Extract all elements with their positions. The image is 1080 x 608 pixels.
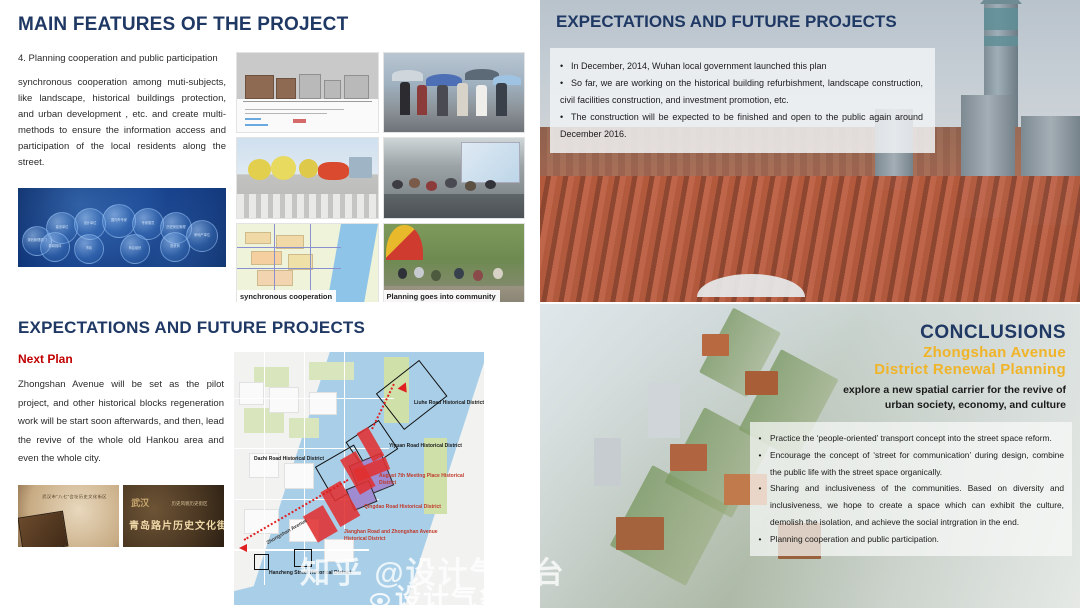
map-label-hanzheng: Hanzheng Street Historical District xyxy=(269,570,351,576)
slide-conclusions: CONCLUSIONS Zhongshan Avenue District Re… xyxy=(540,304,1080,608)
slide1-body: 4. Planning cooperation and public parti… xyxy=(18,52,525,302)
slide3-body: Next Plan Zhongshan Avenue will be set a… xyxy=(18,352,527,605)
bullet-item: •The construction will be expected to be… xyxy=(560,109,923,143)
page-title: CONCLUSIONS xyxy=(843,322,1066,344)
bullet-item: •Sharing and inclusiveness of the commun… xyxy=(756,480,1064,530)
qingdao-road-poster: 武汉 历史风貌历史街区 青岛路片历史文化街区 xyxy=(123,485,224,547)
historical-districts-map: Zhongshan Avenue Liuhe Road Historical D… xyxy=(234,352,484,605)
slide-expectations-top: EXPECTATIONS AND FUTURE PROJECTS •In Dec… xyxy=(540,0,1080,302)
district-outline-small xyxy=(254,554,269,569)
community-event-photo: Planning goes into community xyxy=(383,223,526,302)
conclusions-subtitle-line1: Zhongshan Avenue xyxy=(843,344,1066,361)
next-plan-heading: Next Plan xyxy=(18,352,224,366)
feature-heading: 4. Planning cooperation and public parti… xyxy=(18,52,226,66)
map-label-dazhi: Dazhi Road Historical District xyxy=(254,456,324,462)
next-plan-thumbnails: 武汉市“八七”会址历史文化街区 武汉 历史风貌历史街区 青岛路片历史文化街区 xyxy=(18,485,224,547)
expectations-bullet-panel: •In December, 2014, Wuhan local governme… xyxy=(550,48,935,153)
feature-photo-gallery: synchronous cooperation Planning goes in… xyxy=(236,52,525,302)
presentation-collage: MAIN FEATURES OF THE PROJECT 4. Planning… xyxy=(0,0,1080,608)
street-rendering xyxy=(236,137,379,218)
bullet-item: •In December, 2014, Wuhan local governme… xyxy=(560,58,923,75)
poster-caption: 武汉市“八七”会址历史文化街区 xyxy=(42,494,107,500)
conclusions-tagline-line2: urban society, economy, and culture xyxy=(843,398,1066,413)
bullet-item: •Encourage the concept of ‘street for co… xyxy=(756,447,1064,481)
poster-caption: 青岛路片历史文化街区 xyxy=(129,517,224,532)
map-label-liuhe: Liuhe Road Historical District xyxy=(414,400,484,406)
page-title: EXPECTATIONS AND FUTURE PROJECTS xyxy=(556,12,897,32)
conclusions-subtitle-line2: District Renewal Planning xyxy=(843,361,1066,378)
map-label-qingdao: Qingdao Road Historical District xyxy=(364,504,441,510)
district-outline-hanzheng xyxy=(294,549,312,567)
slide-next-plan: EXPECTATIONS AND FUTURE PROJECTS Next Pl… xyxy=(0,304,537,608)
building-elevation-drawing xyxy=(236,52,379,133)
gallery-caption: Planning goes into community xyxy=(384,290,500,302)
bullet-item: •So far, we are working on the historica… xyxy=(560,75,923,109)
next-plan-paragraph: Zhongshan Avenue will be set as the pilo… xyxy=(18,376,224,469)
conclusions-tagline-line1: explore a new spatial carrier for the re… xyxy=(843,383,1066,398)
community-meeting-photo xyxy=(383,137,526,218)
conclusions-title-block: CONCLUSIONS Zhongshan Avenue District Re… xyxy=(843,322,1066,413)
residents-in-rain-photo xyxy=(383,52,526,133)
conclusions-bullet-panel: •Practice the ‘people-oriented’ transpor… xyxy=(750,422,1072,556)
bullet-item: •Planning cooperation and public partici… xyxy=(756,531,1064,548)
map-label-yiyuan: Yiyuan Road Historical District xyxy=(389,443,462,449)
gallery-caption: synchronous cooperation xyxy=(237,290,336,302)
page-title: EXPECTATIONS AND FUTURE PROJECTS xyxy=(18,318,527,338)
planning-map: synchronous cooperation xyxy=(236,223,379,302)
stakeholder-bubble-diagram: 规划管理部门 建设单位 设计单位 国内外专家 专家委员 历史街区管理 房地产单位… xyxy=(18,188,226,267)
slide1-text-column: 4. Planning cooperation and public parti… xyxy=(18,52,226,302)
august-7th-poster: 武汉市“八七”会址历史文化街区 xyxy=(18,485,119,547)
slide-main-features: MAIN FEATURES OF THE PROJECT 4. Planning… xyxy=(0,0,537,302)
next-plan-column: Next Plan Zhongshan Avenue will be set a… xyxy=(18,352,224,605)
page-title: MAIN FEATURES OF THE PROJECT xyxy=(18,14,525,36)
bullet-item: •Practice the ‘people-oriented’ transpor… xyxy=(756,430,1064,447)
map-label-august7th: August 7th Meeting Place Historical Dist… xyxy=(379,473,474,487)
map-label-jianghan: Jianghan Road and Zhongshan Avenue Histo… xyxy=(344,529,449,543)
arrow-head-southwest xyxy=(239,544,247,552)
feature-paragraph: synchronous cooperation among muti-subje… xyxy=(18,75,226,172)
